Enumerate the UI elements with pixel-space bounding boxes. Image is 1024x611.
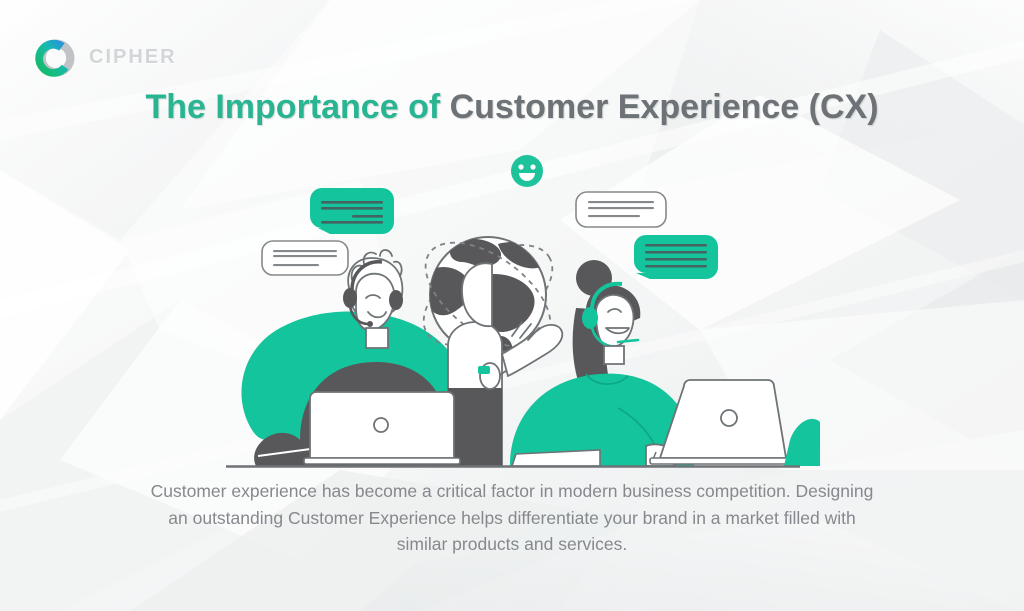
body-copy: Customer experience has become a critica… xyxy=(62,478,962,558)
page-title-plain: Customer Experience (CX) xyxy=(450,88,879,126)
chat-bubble-green-left xyxy=(310,188,394,234)
cipher-c-ring-logo-icon xyxy=(34,36,78,80)
slide-canvas: CIPHER The Importance of Customer Experi… xyxy=(0,0,1024,611)
chat-bubble-outline-left xyxy=(262,241,348,275)
customer-support-team-illustration xyxy=(0,140,1024,480)
smiley-face-icon xyxy=(511,155,543,187)
body-copy-line-3: similar products and services. xyxy=(62,531,962,558)
page-title-accent: The Importance of xyxy=(145,88,449,126)
chat-bubble-green-right xyxy=(634,235,718,279)
support-agent-right xyxy=(510,260,820,466)
body-copy-line-1: Customer experience has become a critica… xyxy=(62,478,962,505)
body-copy-line-2: an outstanding Customer Experience helps… xyxy=(62,505,962,532)
brand-wordmark: CIPHER xyxy=(89,47,177,69)
brand-logo[interactable]: CIPHER xyxy=(34,36,177,80)
chat-bubble-outline-right xyxy=(576,192,666,227)
page-title: The Importance of Customer Experience (C… xyxy=(0,88,1024,127)
